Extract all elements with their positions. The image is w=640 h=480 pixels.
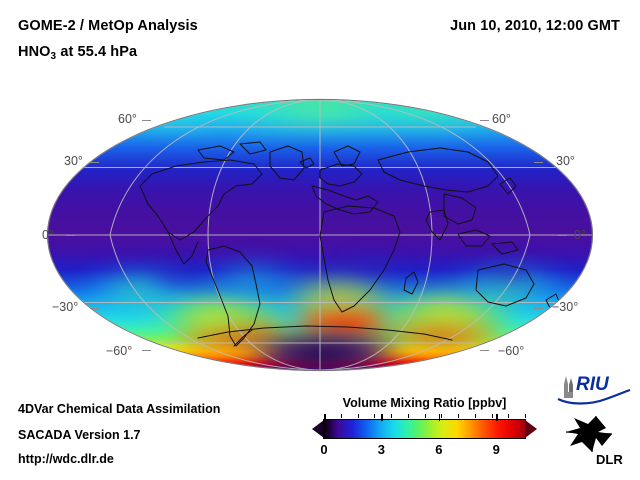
datetime-label: Jun 10, 2010, 12:00 GMT [450, 18, 620, 34]
colorbar-tick-label-9: 9 [493, 442, 500, 457]
colorbar-bar-wrap [312, 420, 537, 438]
colorbar-gradient [324, 420, 525, 438]
dlr-emblem-icon [566, 416, 612, 452]
lat-tick-right-0 [558, 235, 567, 236]
map-figure: 60° 30° 0° −30° −60° 60° 30° 0° −30° −60… [40, 92, 600, 378]
mollweide-map [48, 100, 592, 370]
footer-line-version: SACADA Version 1.7 [18, 428, 141, 442]
page-title: GOME-2 / MetOp Analysis [18, 18, 198, 34]
colorbar-tick-label-3: 3 [378, 442, 385, 457]
lat-tick-right-m60 [480, 350, 489, 351]
riu-wordmark: RIU [576, 374, 610, 395]
colorbar-tick-label-0: 0 [320, 442, 327, 457]
lat-tick-right-60 [480, 120, 489, 121]
lat-label-left-m60: −60° [106, 344, 132, 358]
lat-tick-left-60 [142, 120, 151, 121]
colorbar-tick-label-6: 6 [435, 442, 442, 457]
lat-tick-left-m60 [142, 350, 151, 351]
lat-label-right-m30: −30° [552, 300, 578, 314]
dlr-wordmark: DLR [596, 452, 623, 467]
colorbar-tick-labels: 0 3 6 9 [312, 442, 537, 460]
lat-tick-left-30 [90, 162, 99, 163]
coastlines [48, 100, 592, 370]
lat-tick-right-30 [534, 162, 543, 163]
species-subscript: 3 [51, 51, 57, 62]
lat-tick-right-m30 [534, 308, 543, 309]
colorbar-ticks [324, 414, 525, 421]
lat-tick-left-m30 [90, 308, 99, 309]
riu-cathedral-icon [564, 376, 573, 398]
lat-label-right-m60: −60° [498, 344, 524, 358]
colorbar-high-extend-arrow [525, 420, 537, 438]
lat-label-right-60: 60° [492, 112, 511, 126]
colorbar-title: Volume Mixing Ratio [ppbv] [312, 396, 537, 410]
species-subtitle: HNO3 at 55.4 hPa [18, 44, 137, 60]
lat-label-right-30: 30° [556, 154, 575, 168]
footer-line-method: 4DVar Chemical Data Assimilation [18, 402, 220, 416]
species-level: at 55.4 hPa [56, 44, 137, 60]
colorbar: Volume Mixing Ratio [ppbv] 0 3 6 9 [312, 396, 537, 468]
footer-line-url[interactable]: http://wdc.dlr.de [18, 452, 114, 466]
colorbar-low-extend-arrow [312, 420, 324, 438]
lat-label-left-m30: −30° [52, 300, 78, 314]
riu-logo: RIU [556, 372, 632, 406]
lat-label-left-30: 30° [64, 154, 83, 168]
lat-label-left-60: 60° [118, 112, 137, 126]
species-formula: HNO [18, 44, 51, 60]
lat-tick-left-0 [66, 235, 75, 236]
lat-label-right-0: 0° [574, 228, 586, 242]
lat-label-left-0: 0° [42, 228, 54, 242]
